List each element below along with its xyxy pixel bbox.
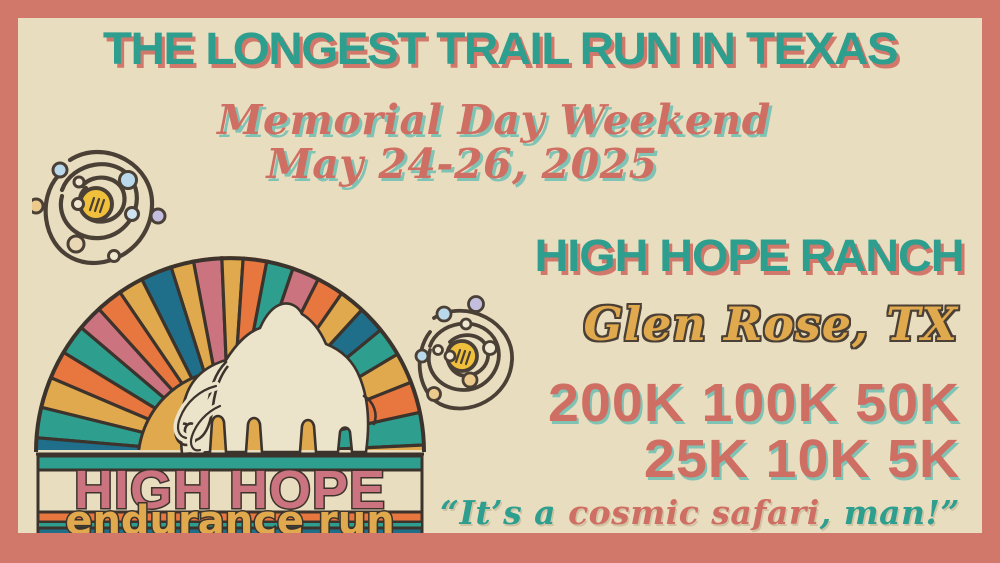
tagline: “It’s a cosmic safari, man!” (440, 496, 960, 529)
event-logo: HIGH HOPE endurance run (30, 226, 430, 533)
logo-subtitle-banner: endurance run (38, 498, 422, 533)
logo-subtitle: endurance run (65, 498, 394, 533)
poster-frame: THE LONGEST TRAIL RUN IN TEXAS Memorial … (0, 0, 1000, 563)
poster-canvas: THE LONGEST TRAIL RUN IN TEXAS Memorial … (18, 18, 982, 533)
tagline-suffix: , man!” (820, 493, 960, 532)
race-distances: 200K 100K 50K 25K 10K 5K (560, 376, 960, 487)
venue-name: HIGH HOPE RANCH (535, 233, 964, 278)
tagline-prefix: “It’s a (440, 493, 568, 532)
race-distances-row-2: 25K 10K 5K (548, 432, 960, 488)
page-title: THE LONGEST TRAIL RUN IN TEXAS (18, 26, 982, 71)
race-distances-row-1: 200K 100K 50K (548, 376, 960, 432)
tagline-highlight: cosmic safari (568, 493, 820, 533)
venue-city: Glen Rose, TX (583, 301, 958, 347)
